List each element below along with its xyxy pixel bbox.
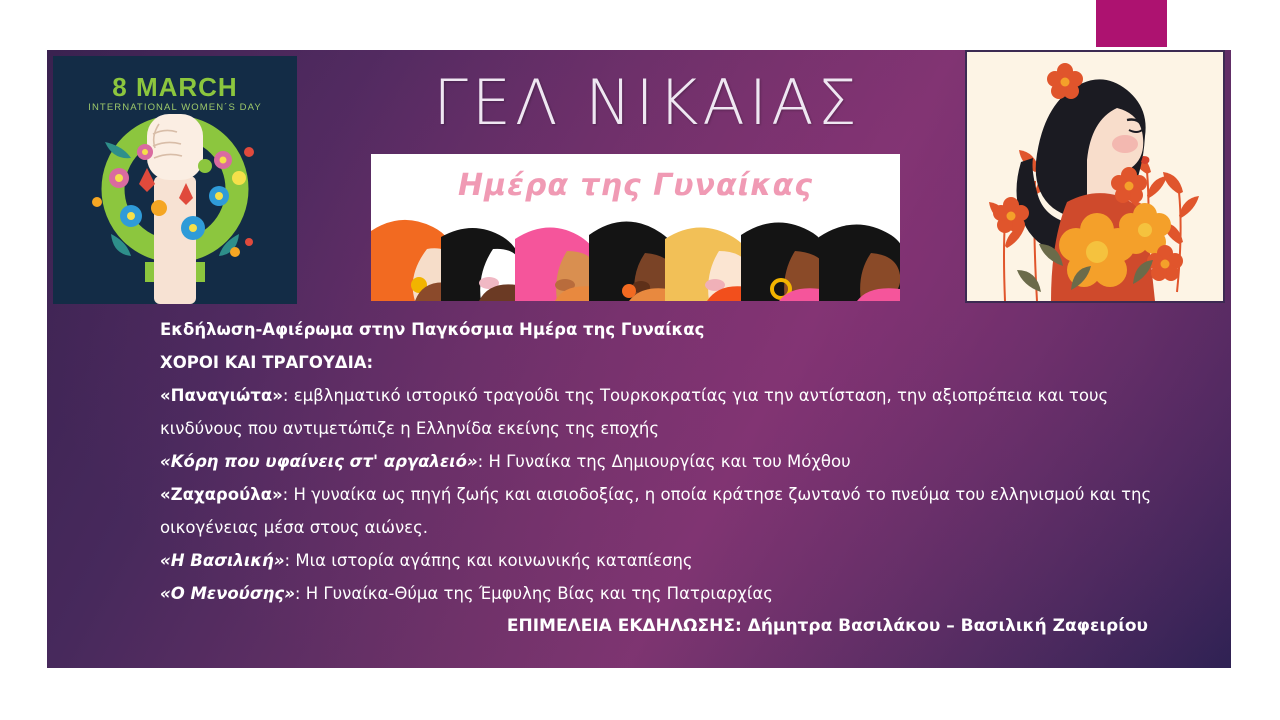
- subheading-text: ΧΟΡΟΙ ΚΑΙ ΤΡΑΓΟΥΔΙΑ:: [160, 353, 373, 372]
- body-heading: Εκδήλωση-Αφιέρωμα στην Παγκόσμια Ημέρα τ…: [160, 313, 1170, 346]
- accent-bar: [1096, 0, 1167, 47]
- song-description: Η Γυναίκα της Δημιουργίας και του Μόχθου: [488, 452, 850, 471]
- credits-line: ΕΠΙΜΕΛΕΙΑ ΕΚΔΗΛΩΣΗΣ: Δήμητρα Βασιλάκου –…: [160, 616, 1170, 636]
- separator: :: [283, 386, 294, 405]
- presentation-slide: 8 MARCH INTERNATIONAL WOMEN´S DAY: [47, 50, 1231, 668]
- song-title: «Ο Μενούσης»: [160, 584, 295, 603]
- banner-title: Ημέρα της Γυναίκας: [371, 168, 900, 203]
- song-description: εμβληματικό ιστορικό τραγούδι της Τουρκο…: [160, 386, 1108, 438]
- song-description: Μια ιστορία αγάπης και κοινωνικής καταπί…: [295, 551, 692, 570]
- song-description: Η Γυναίκα-Θύμα της Έμφυλης Βίας και της …: [306, 584, 773, 603]
- separator: :: [283, 485, 294, 504]
- woman-profile-flowers-icon: [967, 52, 1223, 301]
- fist-flowers-venus-icon: [53, 56, 297, 304]
- song-title: «Παναγιώτα»: [160, 386, 283, 405]
- banner-imera-tis-gynaikas: Ημέρα της Γυναίκας: [371, 154, 900, 301]
- slide-stage: 8 MARCH INTERNATIONAL WOMEN´S DAY: [0, 0, 1280, 720]
- song-title: «Η Βασιλική»: [160, 551, 285, 570]
- page-title: ΓΕΛ ΝΙΚΑΙΑΣ: [347, 72, 947, 134]
- women-profiles-icon: [371, 209, 900, 301]
- heading-text: Εκδήλωση-Αφιέρωμα στην Παγκόσμια Ημέρα τ…: [160, 320, 704, 339]
- slide-body: Εκδήλωση-Αφιέρωμα στην Παγκόσμια Ημέρα τ…: [160, 313, 1170, 610]
- separator: :: [285, 551, 296, 570]
- song-title: «Κόρη που υφαίνεις στ' αργαλειό»: [160, 452, 478, 471]
- song-description: Η γυναίκα ως πηγή ζωής και αισιοδοξίας, …: [160, 485, 1151, 537]
- list-item: «Ο Μενούσης»: Η Γυναίκα-Θύμα της Έμφυλης…: [160, 577, 1170, 610]
- separator: :: [295, 584, 306, 603]
- list-item: «Ζαχαρούλα»: Η γυναίκα ως πηγή ζωής και …: [160, 478, 1170, 544]
- separator: :: [478, 452, 489, 471]
- body-subheading: ΧΟΡΟΙ ΚΑΙ ΤΡΑΓΟΥΔΙΑ:: [160, 346, 1170, 379]
- illustration-woman-flowers: [965, 50, 1225, 303]
- list-item: «Κόρη που υφαίνεις στ' αργαλειό»: Η Γυνα…: [160, 445, 1170, 478]
- list-item: «Η Βασιλική»: Μια ιστορία αγάπης και κοι…: [160, 544, 1170, 577]
- song-title: «Ζαχαρούλα»: [160, 485, 283, 504]
- list-item: «Παναγιώτα»: εμβληματικό ιστορικό τραγού…: [160, 379, 1170, 445]
- poster-8-march: 8 MARCH INTERNATIONAL WOMEN´S DAY: [53, 56, 297, 304]
